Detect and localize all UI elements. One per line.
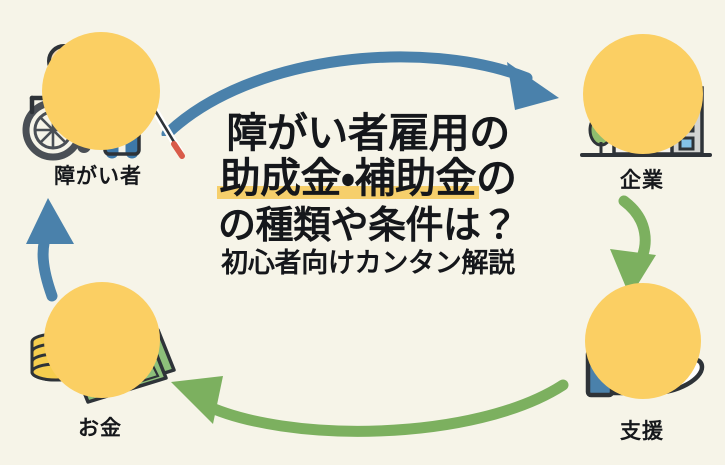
node-company-art	[552, 30, 725, 170]
node-company: 企業	[552, 30, 725, 191]
node-label-support: 支援	[552, 421, 725, 442]
title-line-1: 障がい者雇用の	[178, 112, 558, 155]
node-support: 支援	[552, 281, 725, 442]
node-label-company: 企業	[552, 170, 725, 191]
title-line-2-tail: の	[476, 154, 517, 202]
yellow-circle-backdrop	[44, 282, 160, 398]
node-label-disabled-person: 障がい者	[8, 166, 188, 187]
infographic-canvas: 障がい者	[0, 0, 725, 465]
title-block: 障がい者雇用の 助成金・補助金 の の種類や条件は？ 初心者向けカンタン解説	[178, 112, 558, 279]
title-line-3: の種類や条件は？	[178, 205, 558, 245]
node-disabled-person: 障がい者	[8, 26, 188, 187]
node-money: お金	[10, 278, 190, 439]
node-money-art	[10, 278, 190, 418]
node-label-money: お金	[10, 418, 190, 439]
highlighted-phrase-text: 助成金・補助金	[220, 154, 476, 202]
title-line-4: 初心者向けカンタン解説	[178, 250, 558, 279]
yellow-circle-backdrop	[585, 283, 701, 399]
yellow-circle-backdrop	[42, 32, 160, 150]
node-support-art	[552, 281, 725, 421]
node-disabled-person-art	[8, 26, 188, 166]
highlighted-phrase: 助成金・補助金	[220, 157, 476, 200]
title-line-2: 助成金・補助金 の	[220, 157, 517, 200]
arrow-support-to-money	[155, 352, 575, 447]
yellow-circle-backdrop	[583, 34, 703, 154]
